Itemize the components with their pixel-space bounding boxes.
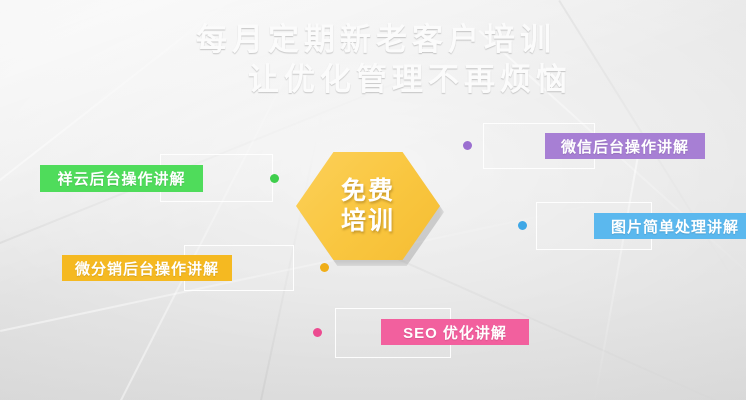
node-label-text: 微分销后台操作讲解 (75, 258, 219, 279)
node-tupian-processing[interactable]: 图片简单处理讲解 (518, 202, 746, 252)
node-label-chip[interactable]: 微信后台操作讲解 (545, 133, 705, 159)
title-line-2: 让优化管理不再烦恼 (0, 60, 746, 100)
node-seo-optimization[interactable]: SEO 优化讲解 (313, 308, 553, 360)
node-label-chip[interactable]: SEO 优化讲解 (381, 319, 529, 345)
title-line-1: 每月定期新老客户培训 (0, 20, 746, 60)
hexagon-label-line-1: 免费 (341, 176, 395, 206)
node-weixin-backend[interactable]: 微信后台操作讲解 (463, 123, 713, 171)
node-connector-dot (270, 174, 279, 183)
node-label-text: 微信后台操作讲解 (561, 136, 689, 157)
node-label-chip[interactable]: 微分销后台操作讲解 (62, 255, 232, 281)
node-label-text: 祥云后台操作讲解 (57, 168, 185, 189)
node-connector-dot (463, 141, 472, 150)
node-label-text: SEO 优化讲解 (403, 322, 507, 343)
node-xiangyun-backend[interactable]: 祥云后台操作讲解 (40, 154, 285, 204)
node-connector-dot (320, 263, 329, 272)
node-label-chip[interactable]: 图片简单处理讲解 (594, 213, 746, 239)
node-connector-dot (313, 328, 322, 337)
training-promo-poster: 每月定期新老客户培训 让优化管理不再烦恼 免费 培训 祥云后台操作讲解 微分销后… (0, 0, 746, 400)
poster-title: 每月定期新老客户培训 让优化管理不再烦恼 (0, 20, 746, 100)
node-label-chip[interactable]: 祥云后台操作讲解 (40, 165, 203, 192)
hexagon-label-line-2: 培训 (341, 206, 395, 236)
hexagon-label: 免费 培训 (296, 152, 440, 260)
hexagon-badge[interactable]: 免费 培训 (296, 152, 440, 260)
node-connector-dot (518, 221, 527, 230)
node-weifenxiao-backend[interactable]: 微分销后台操作讲解 (62, 245, 337, 293)
node-label-text: 图片简单处理讲解 (611, 216, 739, 237)
